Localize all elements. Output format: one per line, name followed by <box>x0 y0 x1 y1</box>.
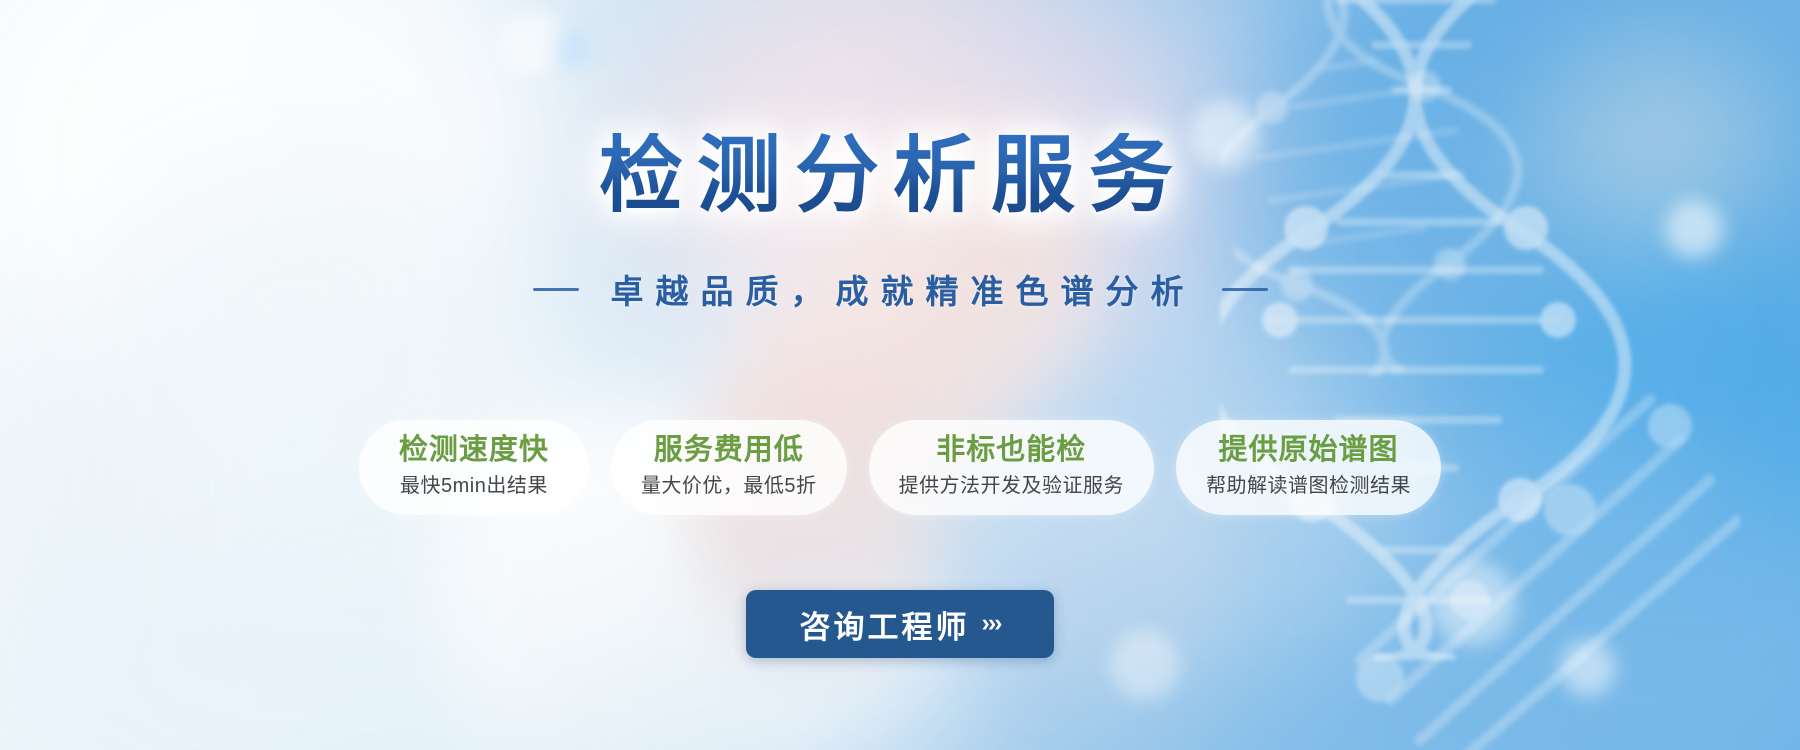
feature-pill-speed[interactable]: 检测速度快 最快5min出结果 <box>359 420 589 515</box>
feature-pill-title: 非标也能检 <box>899 432 1125 468</box>
feature-pill-title: 检测速度快 <box>389 432 559 468</box>
banner-title: 检测分析服务 <box>599 133 1201 217</box>
banner-subtitle: 卓越品质，成就精准色谱分析 <box>605 265 1196 313</box>
feature-pill-price[interactable]: 服务费用低 量大价优，最低5折 <box>611 420 847 515</box>
detection-analysis-service-banner: 检测分析服务 卓越品质，成就精准色谱分析 检测速度快 最快5min出结果 服务费… <box>0 0 1800 750</box>
banner-subtitle-wrap: 卓越品质，成就精准色谱分析 <box>0 265 1800 313</box>
feature-pill-subtitle: 帮助解读谱图检测结果 <box>1206 473 1411 499</box>
subtitle-rule-left <box>533 288 579 291</box>
feature-pill-subtitle: 最快5min出结果 <box>389 473 559 499</box>
subtitle-rule-right <box>1222 288 1268 291</box>
feature-pill-title: 服务费用低 <box>641 432 817 468</box>
feature-pill-raw-spectra[interactable]: 提供原始谱图 帮助解读谱图检测结果 <box>1176 420 1441 515</box>
cta-label: 咨询工程师 <box>800 602 970 647</box>
chevron-right-triple-icon: ››› <box>982 609 1001 638</box>
feature-pill-nonstandard[interactable]: 非标也能检 提供方法开发及验证服务 <box>869 420 1155 515</box>
banner-title-wrap: 检测分析服务 <box>0 133 1800 217</box>
feature-pill-subtitle: 量大价优，最低5折 <box>641 473 817 499</box>
feature-pill-list: 检测速度快 最快5min出结果 服务费用低 量大价优，最低5折 非标也能检 提供… <box>0 420 1800 515</box>
feature-pill-subtitle: 提供方法开发及验证服务 <box>899 473 1125 499</box>
cta-wrap: 咨询工程师 ››› <box>0 590 1800 658</box>
banner-content: 检测分析服务 卓越品质，成就精准色谱分析 检测速度快 最快5min出结果 服务费… <box>0 0 1800 750</box>
consult-engineer-button[interactable]: 咨询工程师 ››› <box>746 590 1055 658</box>
feature-pill-title: 提供原始谱图 <box>1206 432 1411 468</box>
